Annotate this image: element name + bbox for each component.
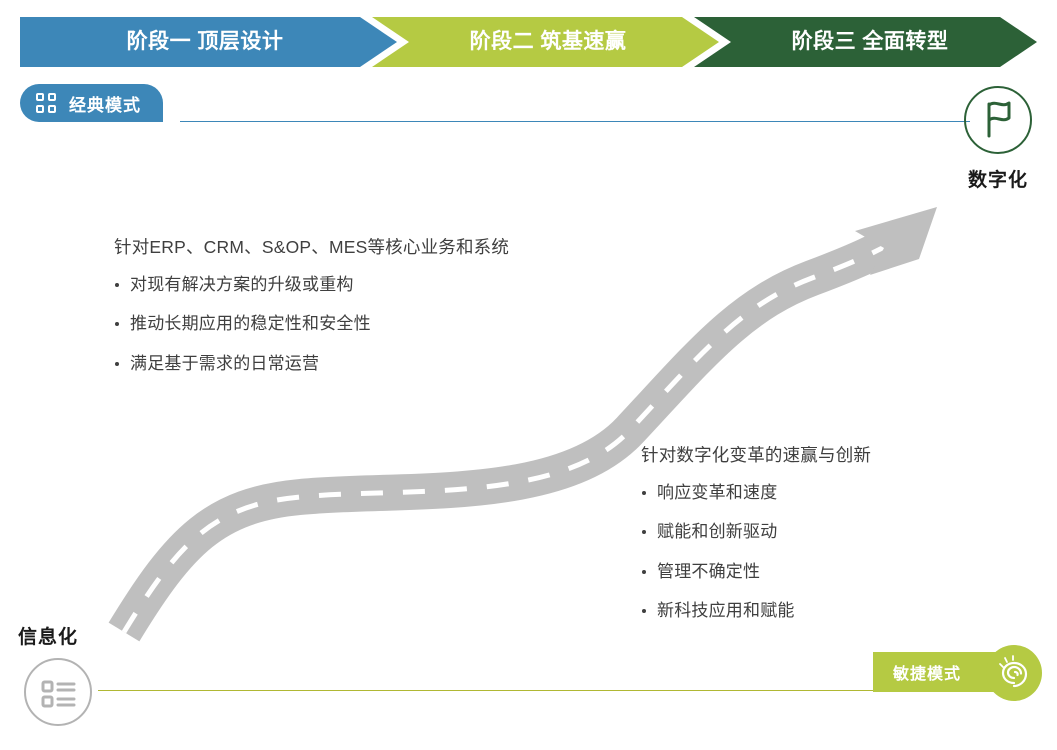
phase-arrow-3[interactable]	[694, 17, 1037, 67]
road-arrow-head	[855, 207, 937, 275]
list-item: 响应变革和速度	[641, 480, 871, 506]
flag-icon	[966, 88, 1030, 152]
informatization-start-marker[interactable]	[24, 658, 92, 726]
digital-goal-label: 数字化	[930, 165, 1057, 192]
agile-mode-divider-line	[98, 690, 888, 691]
informatization-start-label: 信息化	[18, 622, 78, 649]
list-item: 推动长期应用的稳定性和安全性	[114, 311, 509, 337]
list-item: 管理不确定性	[641, 559, 871, 585]
spiral-icon	[986, 645, 1042, 701]
list-item: 满足基于需求的日常运营	[114, 351, 509, 377]
phase-arrow-1[interactable]	[20, 17, 397, 67]
list-item: 对现有解决方案的升级或重构	[114, 272, 509, 298]
classic-mode-badge[interactable]: 经典模式	[20, 84, 163, 122]
list-item: 新科技应用和赋能	[641, 598, 871, 624]
agile-text-heading: 针对数字化变革的速赢与创新	[641, 442, 871, 467]
phase-arrow-2[interactable]	[372, 17, 719, 67]
classic-text-bullet-list: 对现有解决方案的升级或重构 推动长期应用的稳定性和安全性 满足基于需求的日常运营	[114, 272, 509, 377]
agile-mode-spiral-badge[interactable]	[986, 645, 1042, 701]
agile-mode-text-block: 针对数字化变革的速赢与创新 响应变革和速度 赋能和创新驱动 管理不确定性 新科技…	[641, 442, 871, 624]
list-item: 赋能和创新驱动	[641, 519, 871, 545]
grid-four-squares-icon	[36, 93, 56, 113]
phase-ribbon	[0, 17, 1057, 67]
bullet-list-icon	[26, 660, 90, 724]
classic-mode-divider-line	[180, 121, 970, 122]
classic-mode-text-block: 针对ERP、CRM、S&OP、MES等核心业务和系统 对现有解决方案的升级或重构…	[114, 234, 509, 377]
digital-goal-marker[interactable]	[964, 86, 1032, 154]
classic-text-heading: 针对ERP、CRM、S&OP、MES等核心业务和系统	[114, 234, 509, 259]
agile-mode-label: 敏捷模式	[873, 660, 961, 684]
classic-mode-label: 经典模式	[69, 91, 141, 116]
agile-text-bullet-list: 响应变革和速度 赋能和创新驱动 管理不确定性 新科技应用和赋能	[641, 480, 871, 624]
